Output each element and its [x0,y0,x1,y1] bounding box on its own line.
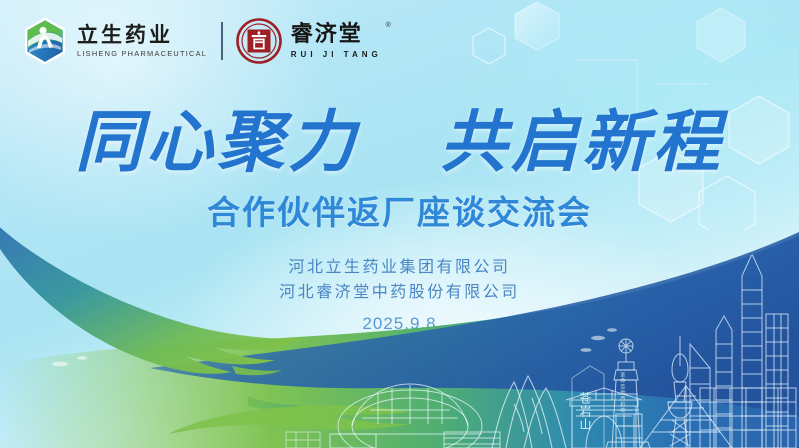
logo-secondary-name-en: RUI JI TANG [291,50,382,59]
logo-primary-name-en: LISHENG PHARMACEUTICAL [77,49,207,58]
registered-trademark-icon: ® [386,22,391,29]
main-title-right: 共启新程 [440,102,724,181]
header-logo-bar: 立生药业 LISHENG PHARMACEUTICAL [22,16,382,66]
hexagon-leaf-logo-icon [22,16,68,66]
poster-canvas: 立生药业 LISHENG PHARMACEUTICAL [0,0,799,448]
logo-secondary-text: 睿济堂 RUI JI TANG ® [291,23,382,58]
city-skyline-illustration [0,218,799,448]
logo-divider [221,22,223,60]
main-title-left: 同心聚力 [75,102,359,181]
poster-main-title: 同心聚力 共启新程 [0,88,799,185]
logo-primary-name-cn: 立生药业 [77,24,207,46]
circular-seal-icon [236,18,282,64]
skyline-svg [0,218,799,448]
logo-primary-text: 立生药业 LISHENG PHARMACEUTICAL [77,24,207,58]
logo-secondary-name-cn: 睿济堂 [291,23,382,46]
